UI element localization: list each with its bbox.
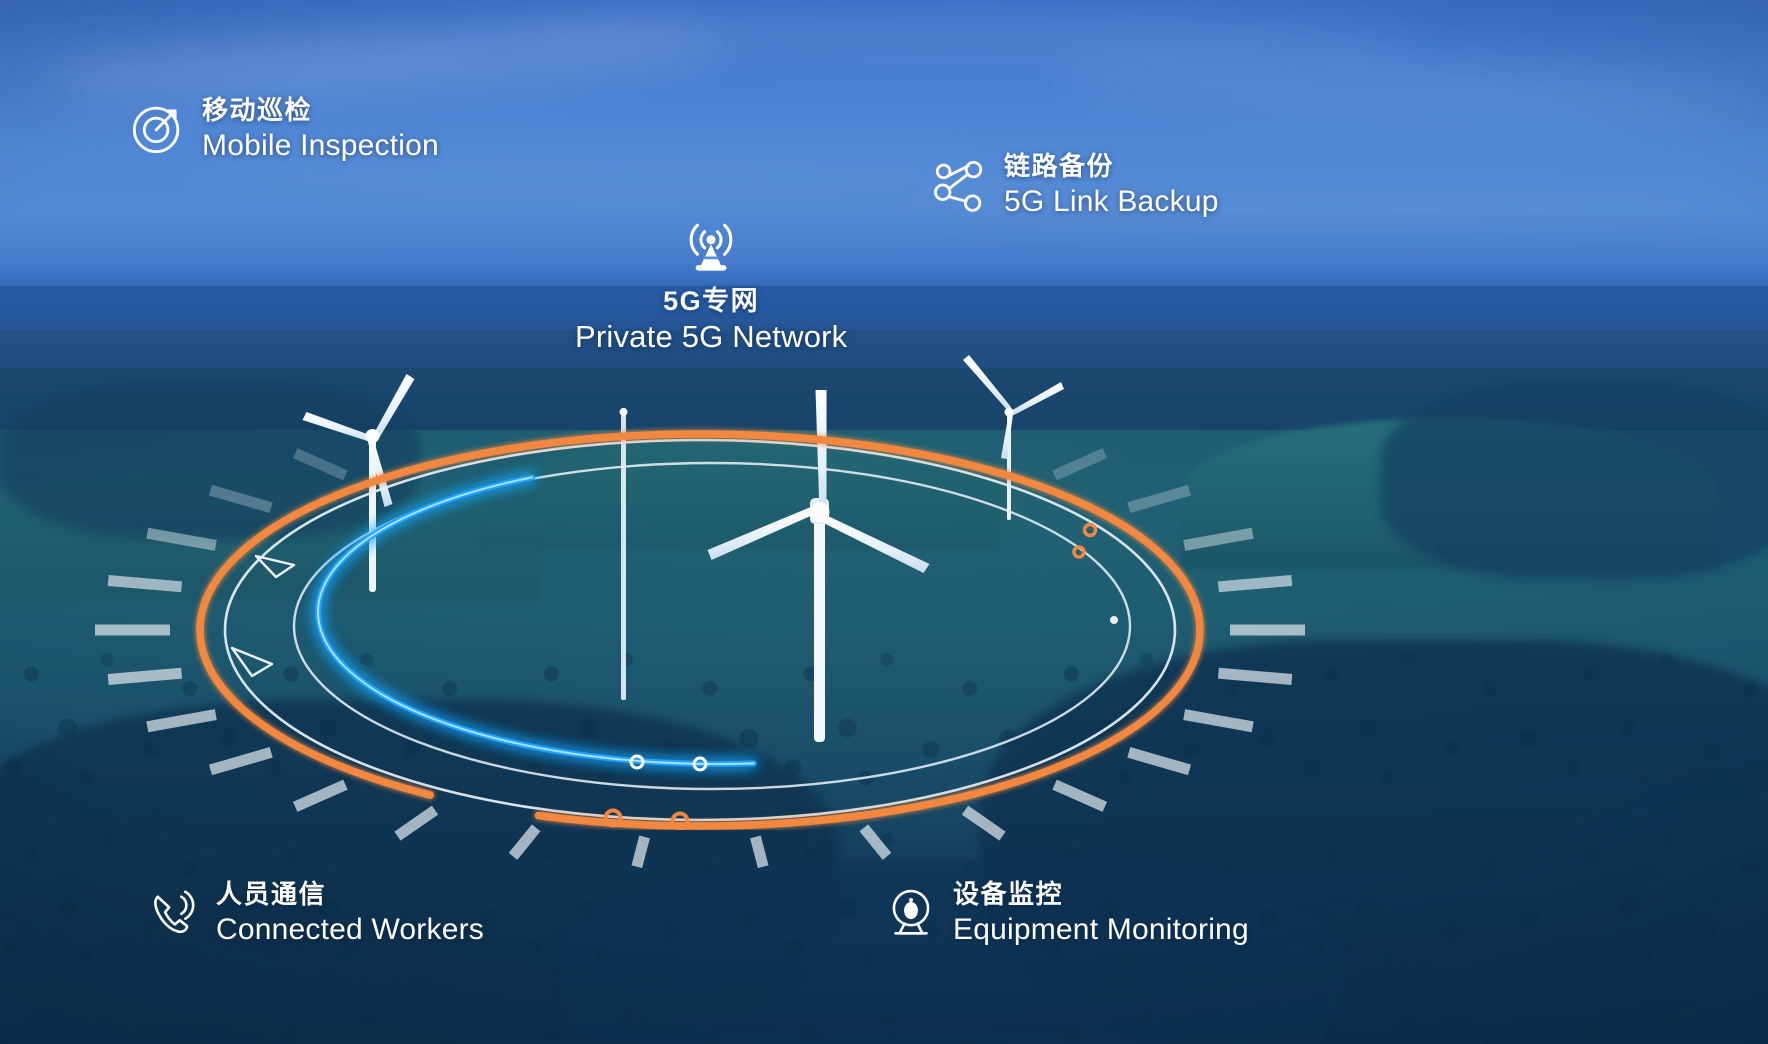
network-share-icon [930,156,988,214]
security-camera-icon [885,887,937,939]
cell-tower-icon [682,218,740,276]
label-private-5g[interactable]: 5G专网 Private 5G Network [575,218,847,355]
label-en: 5G Link Backup [1004,185,1219,219]
label-link-backup[interactable]: 链路备份 5G Link Backup [930,152,1219,219]
label-cn: 链路备份 [1004,152,1219,181]
label-en: Connected Workers [216,913,484,947]
label-en: Equipment Monitoring [953,913,1249,947]
label-cn: 5G专网 [663,286,759,316]
cloud [1049,48,1750,126]
label-cn: 人员通信 [216,880,484,909]
hill [480,440,1000,550]
forest-mass [0,380,420,540]
scene-root: 移动巡检 Mobile Inspection 链路备份 5G Link Back… [0,0,1768,1044]
phone-signal-icon [148,887,200,939]
cloud [520,10,1420,58]
forest-mass [1380,380,1768,580]
label-equipment-monitoring[interactable]: 设备监控 Equipment Monitoring [885,880,1249,947]
target-arrow-icon [128,100,186,158]
tree-texture [0,620,1768,1044]
label-cn: 设备监控 [953,880,1249,909]
label-en: Mobile Inspection [202,129,439,163]
label-en: Private 5G Network [575,320,847,355]
label-connected-workers[interactable]: 人员通信 Connected Workers [148,880,484,947]
label-mobile-inspection[interactable]: 移动巡检 Mobile Inspection [128,96,439,163]
label-cn: 移动巡检 [202,96,439,125]
